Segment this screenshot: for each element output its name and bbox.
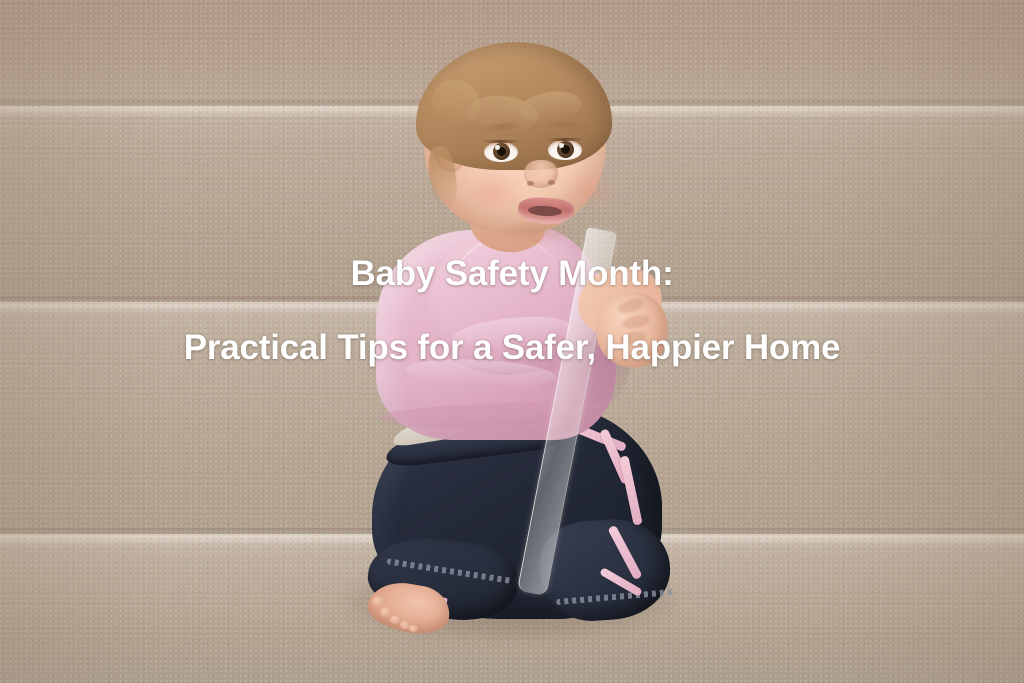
baby-eye-right <box>548 140 582 160</box>
hero-banner: Baby Safety Month: Practical Tips for a … <box>0 0 1024 683</box>
eye-glint-right <box>559 143 564 148</box>
eye-glint-left <box>495 145 500 150</box>
baby-eye-left <box>484 142 518 162</box>
baby-toe-1 <box>372 596 385 607</box>
eyelash-right <box>546 138 584 141</box>
baby-subject <box>0 0 1024 683</box>
eyelash-left <box>482 140 520 143</box>
nostril-left <box>527 181 534 186</box>
chin-shadow <box>492 222 578 246</box>
nostril-right <box>548 180 555 185</box>
baby-toe-2 <box>380 607 392 617</box>
baby-toe-5 <box>409 625 418 632</box>
baby-cheek-left <box>466 172 522 212</box>
background-photo <box>0 0 1024 683</box>
